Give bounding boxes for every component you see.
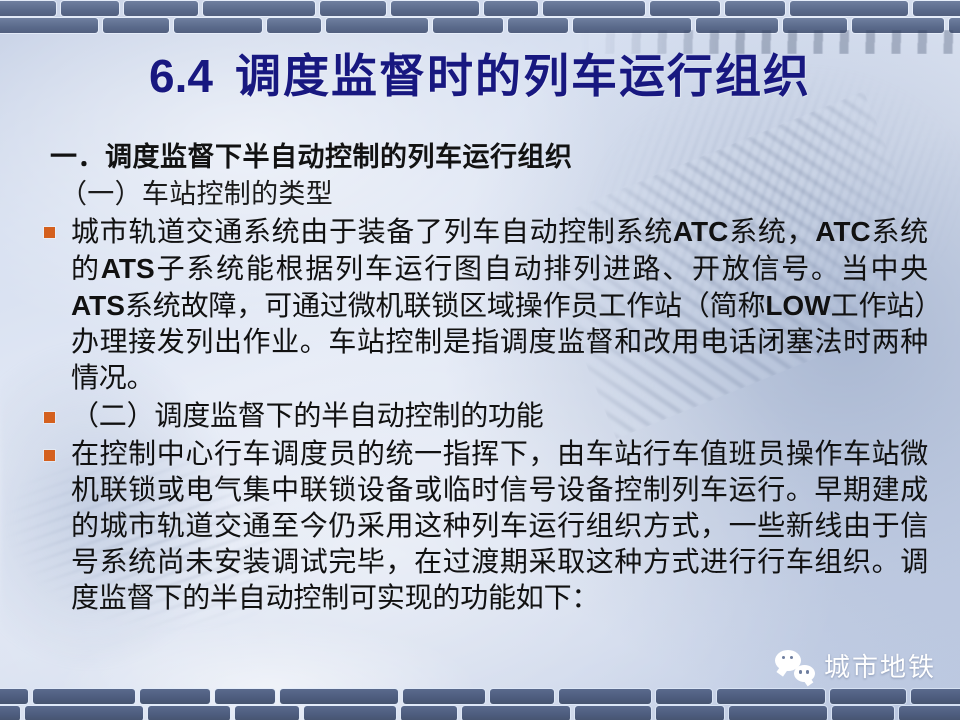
brick: [830, 689, 906, 704]
wechat-dot: [799, 670, 802, 673]
section-heading: 一．调度监督下半自动控制的列车运行组织: [50, 140, 928, 174]
watermark-label: 城市地铁: [824, 647, 936, 684]
bullet-item-1-text: 城市轨道交通系统由于装备了列车自动控制系统ATC系统，ATC系统的ATS子系统能…: [71, 214, 928, 397]
brick: [304, 706, 396, 720]
brick: [280, 689, 398, 704]
brick: [852, 18, 944, 33]
brick: [433, 18, 503, 33]
brick: [203, 1, 315, 16]
latin-term: ATS: [101, 253, 155, 284]
brick: [573, 18, 691, 33]
brick: [103, 18, 169, 33]
brick: [575, 706, 651, 720]
brick: [790, 1, 908, 16]
brick: [911, 689, 960, 704]
brick-row: [0, 1, 960, 16]
brick-row: [0, 689, 960, 704]
brick-row: [0, 18, 960, 33]
brick: [33, 689, 135, 704]
bullet-item-3-text: 在控制中心行车调度员的统一指挥下，由车站行车值班员操作车站微机联锁或电气集中联锁…: [71, 437, 928, 617]
watermark: 城市地铁: [775, 647, 936, 684]
brick: [508, 18, 568, 33]
brick: [656, 689, 712, 704]
brick: [656, 706, 724, 720]
brick: [0, 689, 28, 704]
wechat-dot: [782, 656, 785, 659]
brick: [783, 18, 847, 33]
brick: [696, 18, 778, 33]
brick: [320, 1, 386, 16]
square-bullet-icon: [44, 450, 55, 461]
wechat-icon: [775, 650, 815, 682]
section-subheading: （一）车站控制的类型: [60, 176, 928, 212]
brick: [0, 1, 56, 16]
brick: [725, 1, 785, 16]
bullet-item-1: 城市轨道交通系统由于装备了列车自动控制系统ATC系统，ATC系统的ATS子系统能…: [38, 214, 928, 397]
brick: [25, 706, 143, 720]
brick: [913, 1, 960, 16]
bullet-item-2-text: （二）调度监督下的半自动控制的功能: [71, 399, 928, 435]
brick: [391, 1, 479, 16]
brick: [543, 1, 645, 16]
slide-title-text: 调度监督时的列车运行组织: [235, 51, 811, 102]
bullet-item-3: 在控制中心行车调度员的统一指挥下，由车站行车值班员操作车站微机联锁或电气集中联锁…: [38, 437, 928, 617]
brick: [899, 706, 960, 720]
wechat-bubble-large: [775, 650, 801, 671]
brick: [0, 706, 20, 720]
bullet-item-2: （二）调度监督下的半自动控制的功能: [38, 399, 928, 435]
brick: [401, 706, 457, 720]
brick: [267, 18, 321, 33]
slide-body: 一．调度监督下半自动控制的列车运行组织 （一）车站控制的类型 城市轨道交通系统由…: [38, 140, 928, 619]
brick: [61, 1, 119, 16]
latin-term: ATS: [71, 290, 125, 321]
slide-title: 6.4调度监督时的列车运行组织: [0, 40, 960, 106]
brick: [140, 689, 210, 704]
square-bullet-icon: [44, 227, 55, 238]
brick: [949, 18, 960, 33]
wechat-dot: [790, 656, 793, 659]
brick: [0, 18, 98, 33]
top-brick-border: [0, 0, 960, 34]
brick: [650, 1, 720, 16]
brick: [559, 689, 651, 704]
wechat-bubble-small: [794, 665, 815, 682]
brick: [729, 706, 827, 720]
brick: [326, 18, 428, 33]
brick: [403, 689, 485, 704]
brick-row: [0, 706, 960, 720]
latin-term: LOW: [765, 290, 830, 321]
brick: [215, 689, 275, 704]
square-bullet-icon: [44, 412, 55, 423]
latin-term: ATC: [815, 216, 870, 247]
brick: [462, 706, 570, 720]
brick: [148, 706, 230, 720]
brick: [490, 689, 554, 704]
brick: [717, 689, 825, 704]
brick: [484, 1, 538, 16]
brick: [124, 1, 198, 16]
presentation-slide: 6.4调度监督时的列车运行组织 一．调度监督下半自动控制的列车运行组织 （一）车…: [0, 0, 960, 720]
brick: [832, 706, 894, 720]
brick: [235, 706, 299, 720]
brick: [174, 18, 262, 33]
latin-term: ATC: [673, 216, 728, 247]
bottom-brick-border: [0, 686, 960, 720]
slide-title-number: 6.4: [149, 50, 213, 102]
wechat-dot: [806, 670, 809, 673]
